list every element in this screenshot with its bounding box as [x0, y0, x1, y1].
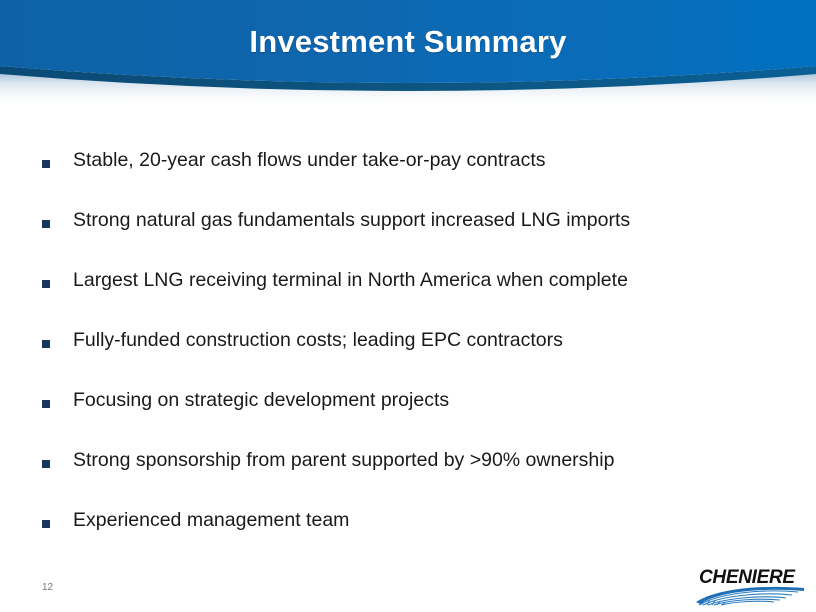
list-item-label: Strong sponsorship from parent supported…: [73, 447, 614, 473]
page-number: 12: [42, 581, 53, 595]
list-item: Fully-funded construction costs; leading…: [0, 314, 816, 374]
list-item-label: Experienced management team: [73, 507, 349, 533]
list-item-label: Strong natural gas fundamentals support …: [73, 207, 630, 233]
list-item: Experienced management team: [0, 494, 816, 554]
list-item-label: Fully-funded construction costs; leading…: [73, 327, 563, 353]
square-bullet-icon: [42, 400, 50, 408]
list-item-label: Largest LNG receiving terminal in North …: [73, 267, 628, 293]
slide-body-bullet-list: Stable, 20-year cash flows under take-or…: [0, 134, 816, 554]
slide-title: Investment Summary: [0, 22, 816, 62]
list-item: Strong natural gas fundamentals support …: [0, 194, 816, 254]
square-bullet-icon: [42, 340, 50, 348]
list-item: Strong sponsorship from parent supported…: [0, 434, 816, 494]
square-bullet-icon: [42, 220, 50, 228]
list-item-label: Focusing on strategic development projec…: [73, 387, 449, 413]
slide-header-banner: Investment Summary: [0, 0, 816, 108]
list-item: Focusing on strategic development projec…: [0, 374, 816, 434]
presentation-slide: Investment Summary Stable, 20-year cash …: [0, 0, 816, 612]
list-item: Stable, 20-year cash flows under take-or…: [0, 134, 816, 194]
square-bullet-icon: [42, 280, 50, 288]
square-bullet-icon: [42, 520, 50, 528]
square-bullet-icon: [42, 460, 50, 468]
cheniere-logo: CHENIERE: [694, 566, 806, 606]
swoosh-icon: [694, 586, 806, 606]
list-item-label: Stable, 20-year cash flows under take-or…: [73, 147, 546, 173]
square-bullet-icon: [42, 160, 50, 168]
list-item: Largest LNG receiving terminal in North …: [0, 254, 816, 314]
